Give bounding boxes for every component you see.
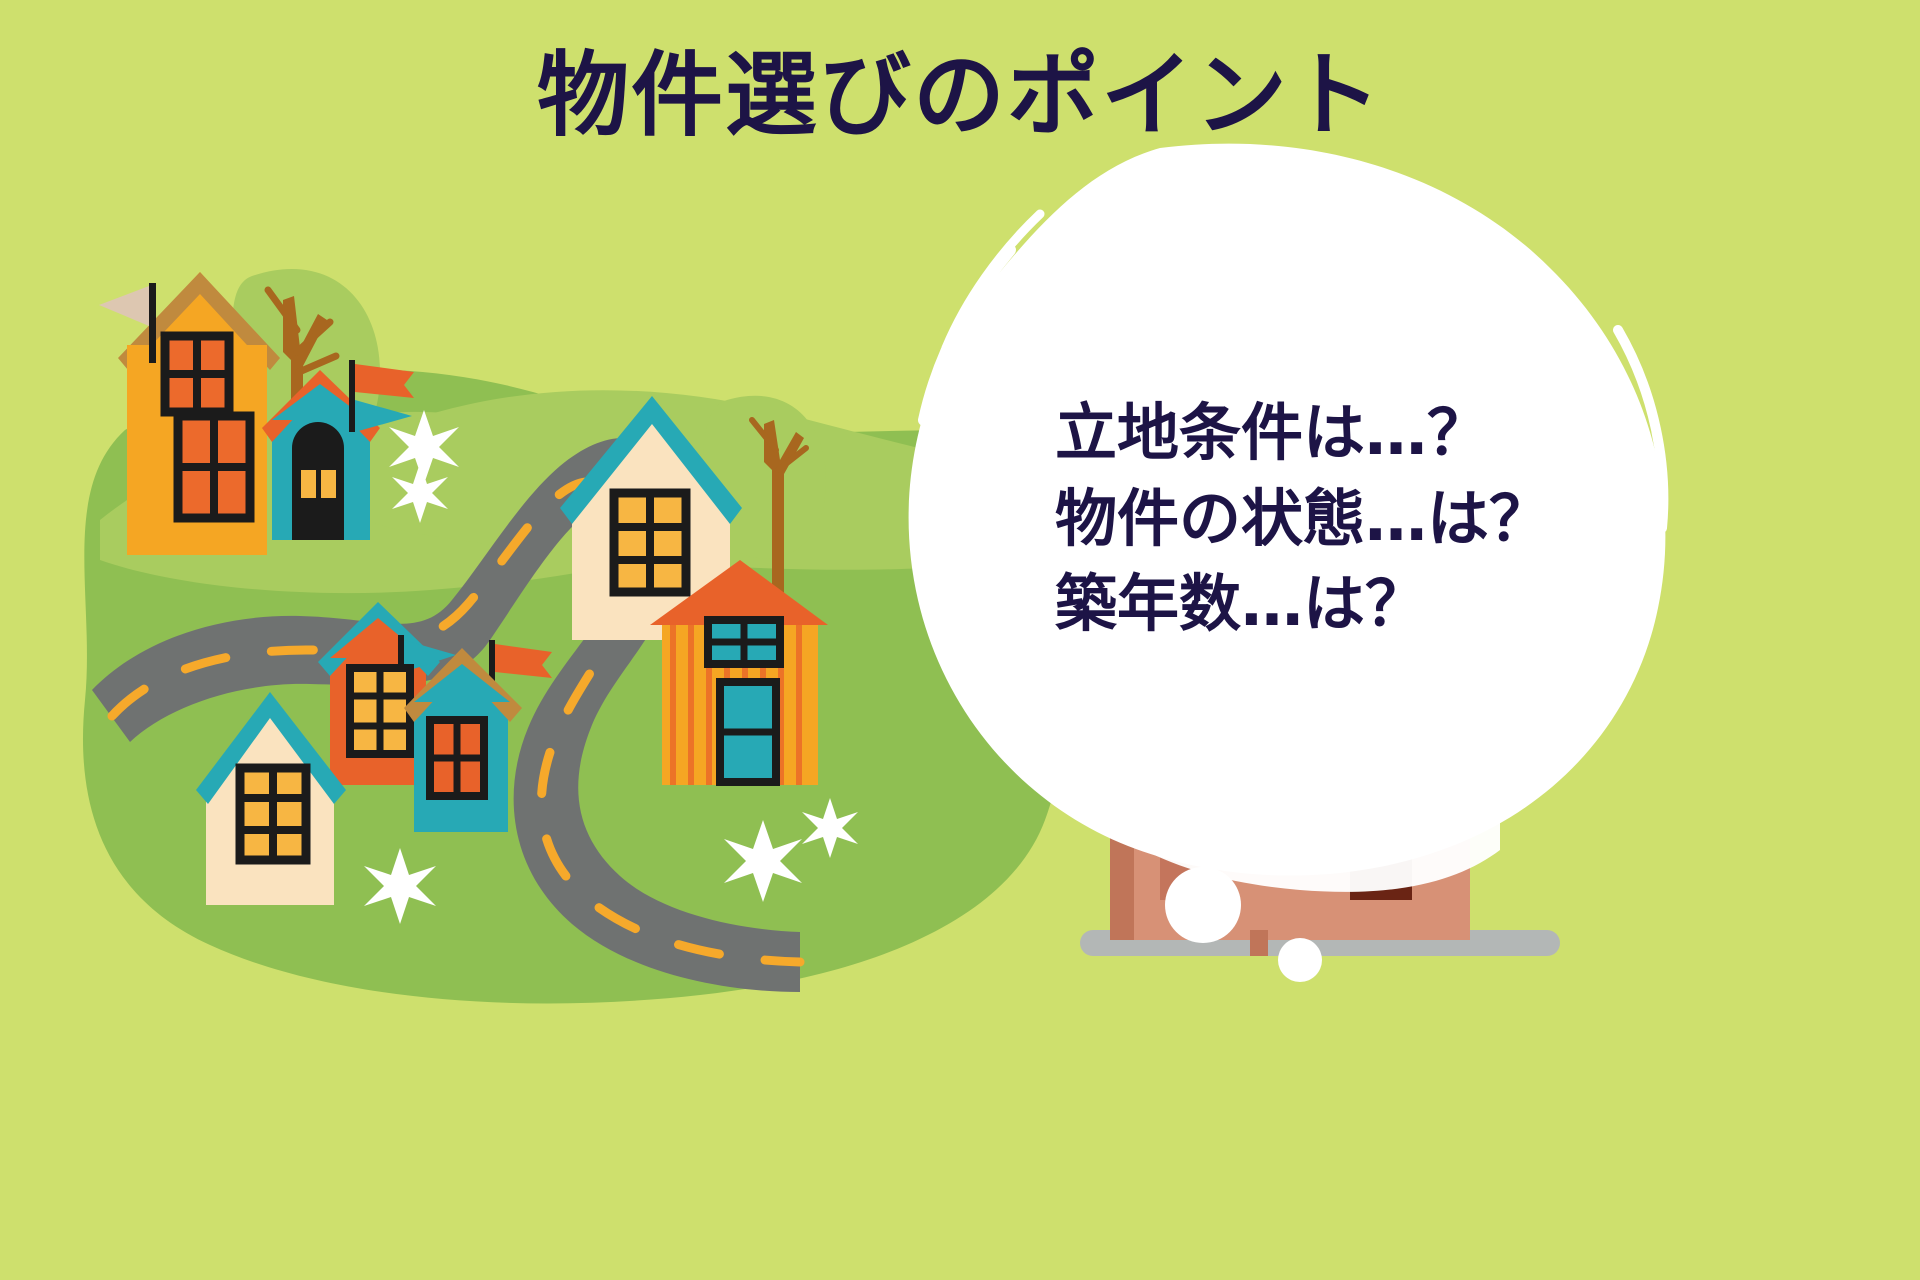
window: [430, 720, 484, 796]
thought-bubble-text: 立地条件は…？ 物件の状態…は？ 築年数…は？: [1055, 390, 1715, 647]
window-upper: [165, 336, 229, 412]
door: [720, 682, 776, 782]
bubble-line-2: 物件の状態…は？: [1055, 476, 1715, 562]
window-lower: [178, 416, 250, 518]
poster-canvas: 物件選びのポイント 立地条件は…？ 物件の状態…は？ 築年数…は？: [0, 0, 1920, 1280]
window-upper: [708, 620, 780, 664]
window: [240, 768, 306, 860]
page-title: 物件選びのポイント: [0, 48, 1920, 145]
bubble-line-1: 立地条件は…？: [1055, 390, 1715, 476]
bubble-dot-small: [1278, 938, 1322, 982]
bubble-line-3: 築年数…は？: [1055, 561, 1715, 647]
window: [614, 493, 686, 592]
window: [350, 668, 410, 754]
